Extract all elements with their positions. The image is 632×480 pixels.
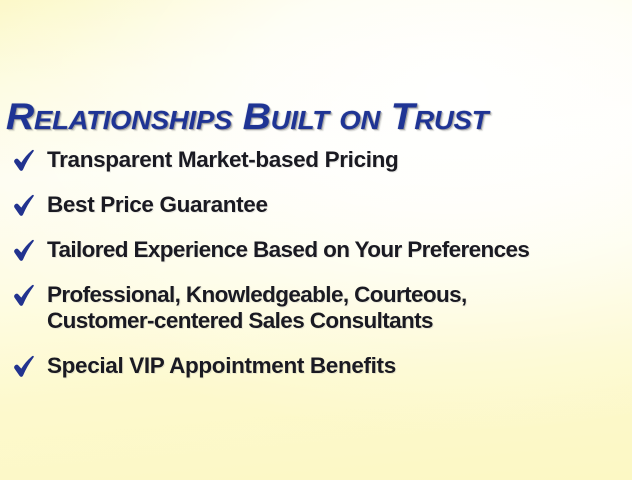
check-mark-icon bbox=[12, 354, 36, 380]
list-item-line-1: Special VIP Appointment Benefits bbox=[47, 353, 396, 378]
presentation-slide: Relationships Built on Trust Transparent… bbox=[0, 0, 632, 480]
list-item-line-2: Customer-centered Sales Consultants bbox=[47, 308, 628, 334]
check-mark-icon bbox=[12, 238, 36, 264]
list-item-line-1: Transparent Market-based Pricing bbox=[47, 147, 398, 172]
title-block: Relationships Built on Trust bbox=[6, 96, 630, 142]
list-item-line-1: Best Price Guarantee bbox=[47, 192, 268, 217]
list-item: Tailored Experience Based on Your Prefer… bbox=[0, 237, 632, 263]
check-mark-icon bbox=[12, 283, 36, 309]
list-item-label: Tailored Experience Based on Your Prefer… bbox=[47, 237, 628, 263]
list-item-label: Professional, Knowledgeable, Courteous,C… bbox=[47, 282, 628, 334]
page-title: Relationships Built on Trust bbox=[6, 96, 632, 138]
list-item-label: Special VIP Appointment Benefits bbox=[47, 353, 628, 379]
check-mark-icon bbox=[12, 193, 36, 219]
list-item-label: Best Price Guarantee bbox=[47, 192, 628, 218]
list-item: Best Price Guarantee bbox=[0, 192, 632, 218]
list-item: Professional, Knowledgeable, Courteous,C… bbox=[0, 282, 632, 334]
list-item-line-1: Tailored Experience Based on Your Prefer… bbox=[47, 237, 529, 262]
benefits-list: Transparent Market-based Pricing Best Pr… bbox=[0, 147, 632, 379]
list-item: Transparent Market-based Pricing bbox=[0, 147, 632, 173]
list-item: Special VIP Appointment Benefits bbox=[0, 353, 632, 379]
check-mark-icon bbox=[12, 148, 36, 174]
list-item-label: Transparent Market-based Pricing bbox=[47, 147, 628, 173]
list-item-line-1: Professional, Knowledgeable, Courteous, bbox=[47, 282, 467, 307]
